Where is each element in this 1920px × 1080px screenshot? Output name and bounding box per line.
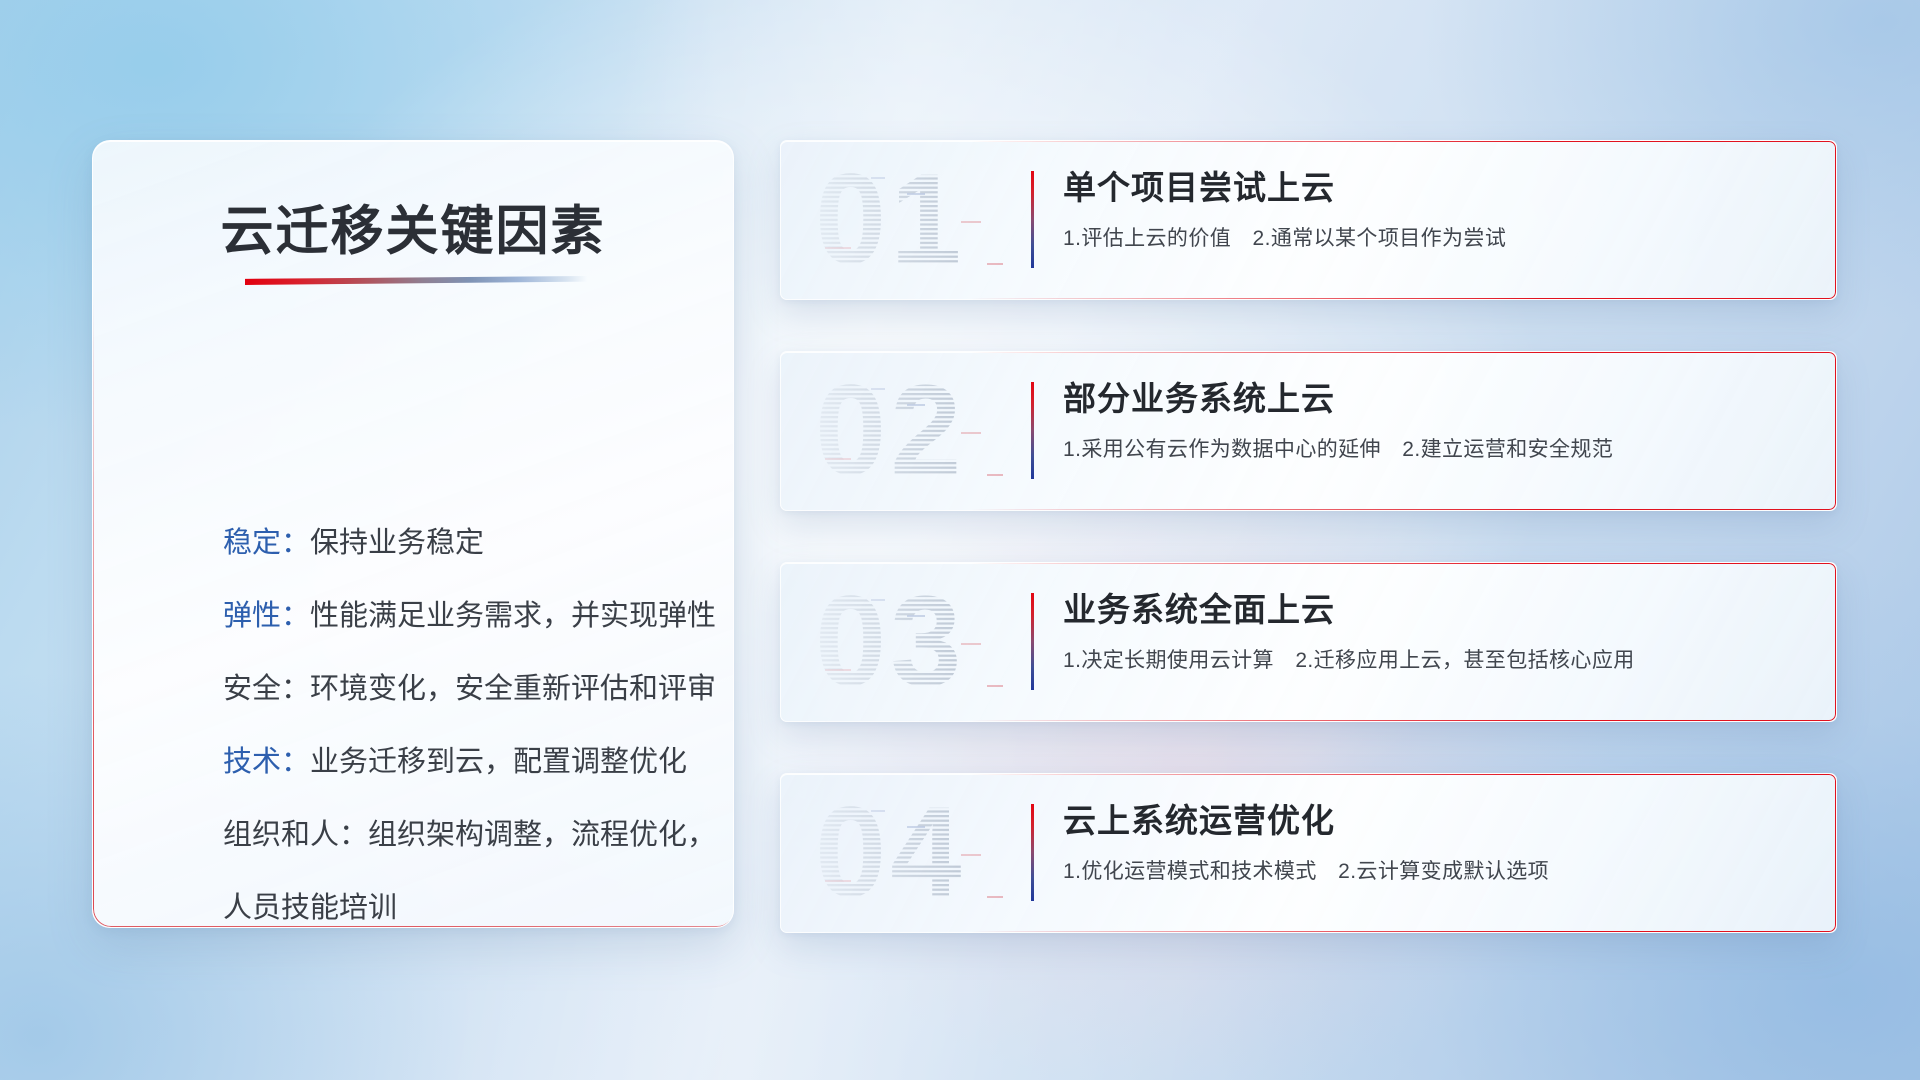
factor-item: 稳定：保持业务稳定: [223, 526, 693, 562]
step-description: 1.评估上云的价值 2.通常以某个项目作为尝试: [1063, 222, 1796, 252]
factor-text: 组织架构调整，流程优化，: [368, 819, 716, 851]
factor-label: 组织和人：: [223, 819, 368, 851]
step-number: 01: [811, 159, 1026, 279]
svg-text:01: 01: [815, 159, 965, 279]
factor-text: 人员技能培训: [223, 892, 397, 924]
svg-text:02: 02: [815, 370, 965, 490]
step-title: 云上系统运营优化: [1063, 800, 1796, 843]
step-body: 云上系统运营优化1.优化运营模式和技术模式 2.云计算变成默认选项: [1063, 800, 1796, 885]
step-description: 1.决定长期使用云计算 2.迁移应用上云，甚至包括核心应用: [1063, 644, 1796, 674]
step-title: 部分业务系统上云: [1063, 378, 1796, 421]
svg-text:03: 03: [815, 581, 965, 701]
factor-list: 稳定：保持业务稳定弹性：性能满足业务需求，并实现弹性安全：环境变化，安全重新评估…: [223, 526, 693, 927]
page-title: 云迁移关键因素: [93, 189, 733, 265]
factor-item: 弹性：性能满足业务需求，并实现弹性: [223, 599, 693, 635]
factor-text: 环境变化，安全重新评估和评审: [310, 673, 716, 705]
step-card[interactable]: 04云上系统运营优化1.优化运营模式和技术模式 2.云计算变成默认选项: [780, 773, 1837, 933]
migration-steps-list: 01单个项目尝试上云1.评估上云的价值 2.通常以某个项目作为尝试02部分业务系…: [780, 140, 1837, 933]
factor-item: 组织和人：组织架构调整，流程优化，: [223, 818, 693, 854]
step-card[interactable]: 01单个项目尝试上云1.评估上云的价值 2.通常以某个项目作为尝试: [780, 140, 1837, 300]
step-accent-bar: [1031, 804, 1034, 901]
step-number: 02: [811, 370, 1026, 490]
step-accent-bar: [1031, 171, 1034, 268]
factor-text: 业务迁移到云，配置调整优化: [310, 746, 687, 778]
step-number: 04: [811, 792, 1026, 912]
factor-item: 安全：环境变化，安全重新评估和评审: [223, 672, 693, 708]
step-title: 单个项目尝试上云: [1063, 167, 1796, 210]
step-body: 部分业务系统上云1.采用公有云作为数据中心的延伸 2.建立运营和安全规范: [1063, 378, 1796, 463]
step-card[interactable]: 02部分业务系统上云1.采用公有云作为数据中心的延伸 2.建立运营和安全规范: [780, 351, 1837, 511]
svg-text:04: 04: [815, 792, 965, 912]
step-description: 1.采用公有云作为数据中心的延伸 2.建立运营和安全规范: [1063, 433, 1796, 463]
factor-label: 技术：: [223, 746, 310, 778]
title-underline-rule: [245, 276, 587, 285]
factor-label: 弹性：: [223, 600, 310, 632]
step-accent-bar: [1031, 382, 1034, 479]
step-card[interactable]: 03业务系统全面上云1.决定长期使用云计算 2.迁移应用上云，甚至包括核心应用: [780, 562, 1837, 722]
step-number: 03: [811, 581, 1026, 701]
step-title: 业务系统全面上云: [1063, 589, 1796, 632]
step-body: 业务系统全面上云1.决定长期使用云计算 2.迁移应用上云，甚至包括核心应用: [1063, 589, 1796, 674]
factor-item: 人员技能培训: [223, 891, 693, 927]
factor-text: 保持业务稳定: [310, 527, 484, 559]
factor-item: 技术：业务迁移到云，配置调整优化: [223, 745, 693, 781]
factor-label: 稳定：: [223, 527, 310, 559]
factor-label: 安全：: [223, 673, 310, 705]
key-factors-panel: 云迁移关键因素 稳定：保持业务稳定弹性：性能满足业务需求，并实现弹性安全：环境变…: [92, 140, 734, 928]
factor-text: 性能满足业务需求，并实现弹性: [310, 600, 716, 632]
step-accent-bar: [1031, 593, 1034, 690]
step-body: 单个项目尝试上云1.评估上云的价值 2.通常以某个项目作为尝试: [1063, 167, 1796, 252]
step-description: 1.优化运营模式和技术模式 2.云计算变成默认选项: [1063, 855, 1796, 885]
